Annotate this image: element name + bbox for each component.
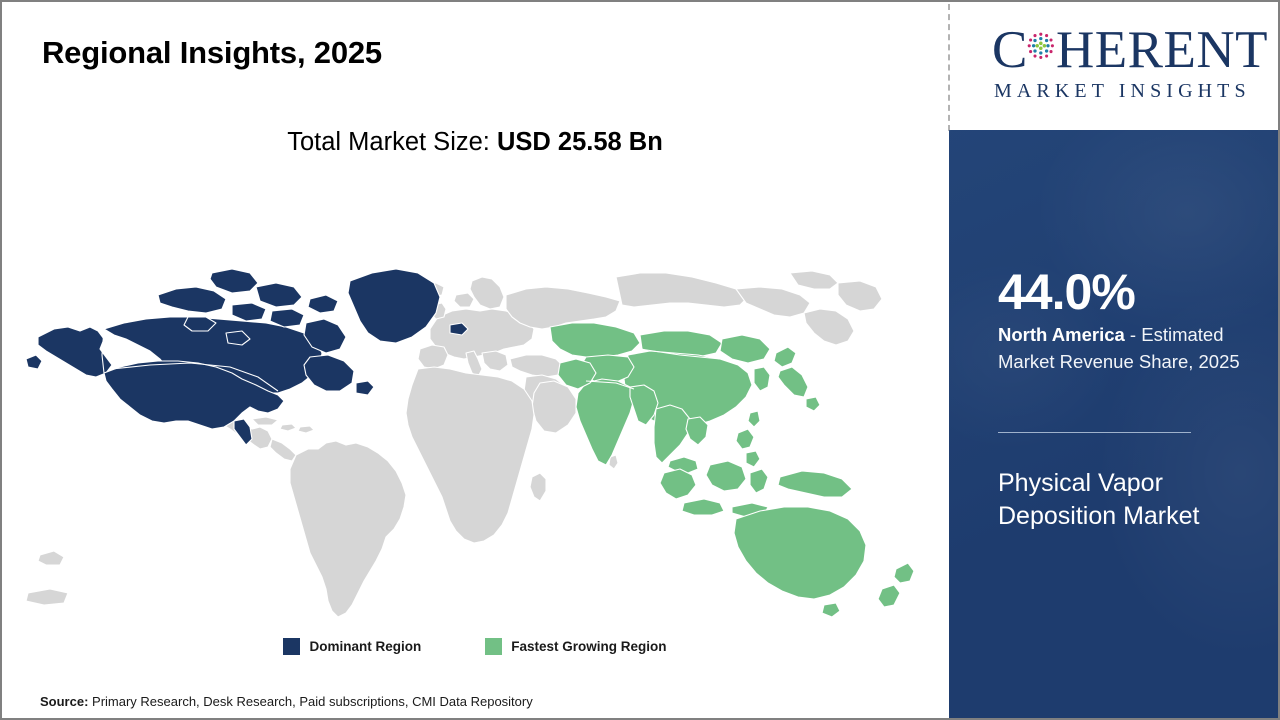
legend-item-fastest: Fastest Growing Region xyxy=(485,638,666,655)
panel-divider-rule xyxy=(998,432,1191,433)
map-legend: Dominant Region Fastest Growing Region xyxy=(2,638,948,655)
stat-value: 44.0% xyxy=(998,267,1135,317)
world-map-svg xyxy=(20,177,920,627)
logo-letter-c: C xyxy=(992,24,1027,77)
infographic-page: Regional Insights, 2025 Total Market Siz… xyxy=(0,0,1280,720)
source-note: Source: Primary Research, Desk Research,… xyxy=(40,694,533,709)
legend-label-fastest: Fastest Growing Region xyxy=(511,639,666,654)
source-label: Source: xyxy=(40,694,88,709)
page-title: Regional Insights, 2025 xyxy=(42,35,382,71)
left-content-pane: Regional Insights, 2025 Total Market Siz… xyxy=(2,2,948,720)
total-market-size-label: Total Market Size: xyxy=(287,128,490,156)
stat-description: North America - Estimated Market Revenue… xyxy=(998,322,1266,376)
source-text: Primary Research, Desk Research, Paid su… xyxy=(88,694,532,709)
logo-subtitle: MARKET INSIGHTS xyxy=(992,80,1268,103)
logo-wordmark-text: HERENT xyxy=(1056,24,1268,77)
legend-item-dominant: Dominant Region xyxy=(283,638,421,655)
logo-wordmark: C xyxy=(992,22,1268,78)
globe-icon xyxy=(1027,32,1055,70)
total-market-size: Total Market Size: USD 25.58 Bn xyxy=(2,128,948,157)
panel-background-texture xyxy=(949,130,1280,720)
world-map xyxy=(20,177,920,627)
vertical-dashed-divider xyxy=(948,4,950,131)
total-market-size-value: USD 25.58 Bn xyxy=(497,128,663,156)
legend-label-dominant: Dominant Region xyxy=(309,639,421,654)
market-name: Physical Vapor Deposition Market xyxy=(998,467,1260,533)
stat-region-name: North America xyxy=(998,324,1125,345)
map-region-asia-pacific xyxy=(550,323,914,617)
map-region-north-america xyxy=(26,269,468,445)
stats-panel: 44.0% North America - Estimated Market R… xyxy=(949,130,1280,720)
legend-swatch-dominant-icon xyxy=(283,638,300,655)
coherent-market-insights-logo: C xyxy=(992,22,1268,114)
legend-swatch-fastest-icon xyxy=(485,638,502,655)
